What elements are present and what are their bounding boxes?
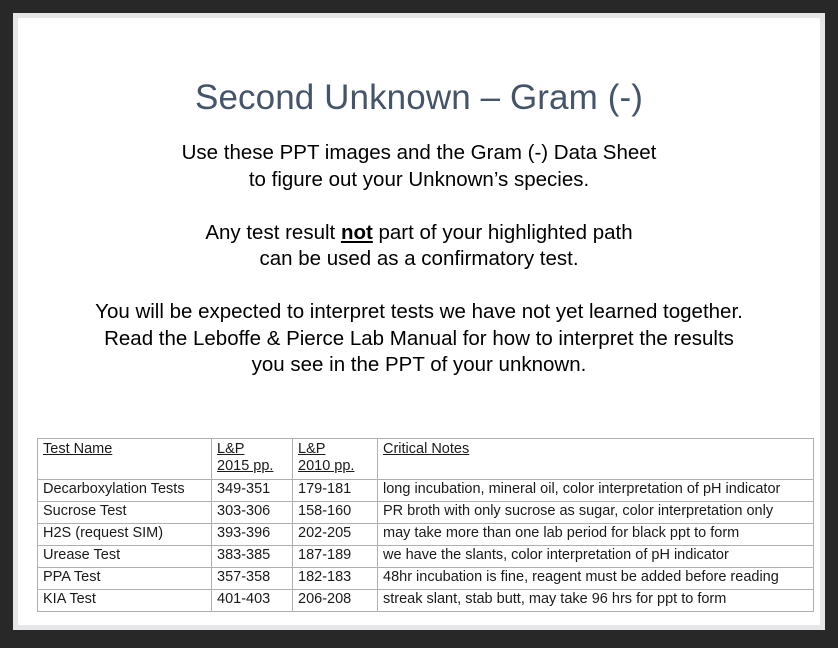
cell-critical-notes: long incubation, mineral oil, color inte… [378, 480, 814, 502]
cell-lp-2015-pp: 383-385 [212, 546, 293, 568]
body-text-run: Any test result [205, 221, 341, 244]
critical-notes-table: Test NameL&P2015 pp.L&P2010 pp.Critical … [37, 438, 814, 612]
body-line: to figure out your Unknown’s species. [18, 167, 820, 194]
cell-test-name: Sucrose Test [38, 502, 212, 524]
cell-test-name: Decarboxylation Tests [38, 480, 212, 502]
cell-critical-notes: PR broth with only sucrose as sugar, col… [378, 502, 814, 524]
cell-lp-2010-pp: 158-160 [293, 502, 378, 524]
cell-lp-2015-pp: 303-306 [212, 502, 293, 524]
body-line: You will be expected to interpret tests … [18, 299, 820, 326]
cell-critical-notes: we have the slants, color interpretation… [378, 546, 814, 568]
table-header-row: Test NameL&P2015 pp.L&P2010 pp.Critical … [38, 439, 814, 480]
header-line: 2015 pp. [217, 458, 273, 475]
cell-critical-notes: may take more than one lab period for bl… [378, 524, 814, 546]
table-row: Decarboxylation Tests349-351179-181long … [38, 480, 814, 502]
cell-lp-2010-pp: 179-181 [293, 480, 378, 502]
paragraph-spacer [18, 193, 820, 220]
body-text-run: part of your highlighted path [373, 221, 633, 244]
header-line: Test Name [43, 441, 112, 458]
paragraph-spacer [18, 273, 820, 300]
cell-critical-notes: streak slant, stab butt, may take 96 hrs… [378, 590, 814, 612]
table-body: Decarboxylation Tests349-351179-181long … [38, 480, 814, 612]
cell-critical-notes: 48hr incubation is fine, reagent must be… [378, 568, 814, 590]
body-line: Read the Leboffe & Pierce Lab Manual for… [18, 326, 820, 353]
table-row: KIA Test401-403206-208streak slant, stab… [38, 590, 814, 612]
column-header-critical-notes: Critical Notes [378, 439, 814, 480]
cell-lp-2015-pp: 349-351 [212, 480, 293, 502]
header-line: Critical Notes [383, 441, 469, 458]
cell-test-name: H2S (request SIM) [38, 524, 212, 546]
cell-lp-2015-pp: 357-358 [212, 568, 293, 590]
body-line: Any test result not part of your highlig… [18, 220, 820, 247]
body-line: can be used as a confirmatory test. [18, 246, 820, 273]
cell-lp-2010-pp: 187-189 [293, 546, 378, 568]
header-line: L&P [217, 441, 244, 458]
table-row: Urease Test383-385187-189we have the sla… [38, 546, 814, 568]
slide-body-text: Use these PPT images and the Gram (-) Da… [18, 140, 820, 379]
cell-test-name: Urease Test [38, 546, 212, 568]
cell-test-name: KIA Test [38, 590, 212, 612]
table-header: Test NameL&P2015 pp.L&P2010 pp.Critical … [38, 439, 814, 480]
page-title: Second Unknown – Gram (-) [18, 79, 820, 118]
table-row: H2S (request SIM)393-396202-205may take … [38, 524, 814, 546]
cell-lp-2010-pp: 182-183 [293, 568, 378, 590]
header-line: L&P [298, 441, 325, 458]
cell-test-name: PPA Test [38, 568, 212, 590]
body-text-run: can be used as a confirmatory test. [259, 247, 578, 270]
column-header-lp-2010-pp: L&P2010 pp. [293, 439, 378, 480]
cell-lp-2015-pp: 401-403 [212, 590, 293, 612]
column-header-lp-2015-pp: L&P2015 pp. [212, 439, 293, 480]
cell-lp-2010-pp: 202-205 [293, 524, 378, 546]
table-row: Sucrose Test303-306158-160PR broth with … [38, 502, 814, 524]
slide-canvas: Second Unknown – Gram (-) Use these PPT … [18, 18, 820, 625]
presentation-slide-frame: Second Unknown – Gram (-) Use these PPT … [13, 13, 825, 630]
cell-lp-2010-pp: 206-208 [293, 590, 378, 612]
critical-notes-table-container: Test NameL&P2015 pp.L&P2010 pp.Critical … [37, 438, 813, 612]
body-line: you see in the PPT of your unknown. [18, 352, 820, 379]
emphasis-text: not [341, 221, 373, 244]
header-line: 2010 pp. [298, 458, 354, 475]
column-header-test-name: Test Name [38, 439, 212, 480]
cell-lp-2015-pp: 393-396 [212, 524, 293, 546]
body-line: Use these PPT images and the Gram (-) Da… [18, 140, 820, 167]
table-row: PPA Test357-358182-18348hr incubation is… [38, 568, 814, 590]
